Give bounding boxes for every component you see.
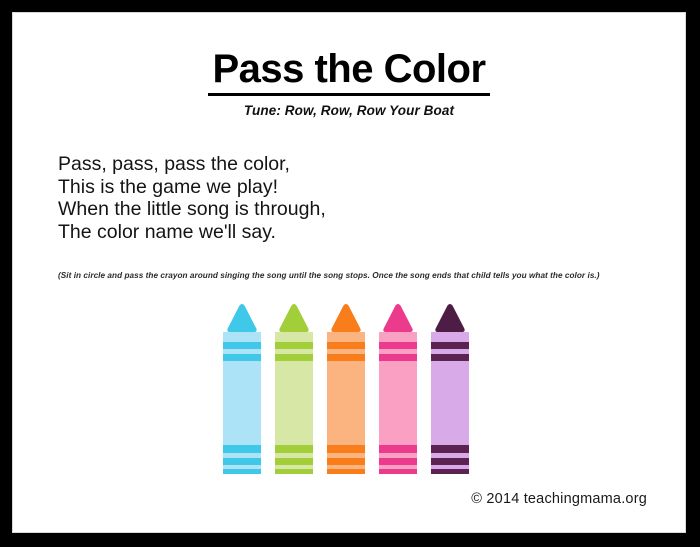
purple-crayon-stripe <box>431 342 469 349</box>
blue-crayon-stripe <box>223 354 261 361</box>
green-crayon-stripe <box>275 469 313 474</box>
lyrics-block: Pass, pass, pass the color, This is the … <box>58 153 658 243</box>
purple-crayon-stripe <box>431 458 469 465</box>
pink-crayon-tip-icon <box>382 304 414 332</box>
crayon-illustration-row <box>223 304 473 470</box>
purple-crayon-stripe <box>431 469 469 474</box>
lyric-line: When the little song is through, <box>58 198 658 221</box>
blue-crayon <box>223 304 261 470</box>
pink-crayon-stripe <box>379 342 417 349</box>
purple-crayon-body <box>431 332 469 470</box>
purple-crayon-stripe <box>431 354 469 361</box>
title-block: Pass the Color Tune: Row, Row, Row Your … <box>13 48 685 118</box>
page-title: Pass the Color <box>208 48 489 96</box>
green-crayon-stripe <box>275 458 313 465</box>
blue-crayon-fill <box>223 332 261 342</box>
pink-crayon-stripe <box>379 354 417 361</box>
purple-crayon-tip-icon <box>434 304 466 332</box>
poster-sheet: Pass the Color Tune: Row, Row, Row Your … <box>13 13 685 532</box>
blue-crayon-body <box>223 332 261 470</box>
purple-crayon-fill <box>431 332 469 342</box>
page-subtitle: Tune: Row, Row, Row Your Boat <box>13 103 685 118</box>
blue-crayon-stripe <box>223 342 261 349</box>
pink-crayon-stripe <box>379 469 417 474</box>
pink-crayon-stripe <box>379 445 417 453</box>
orange-crayon-stripe <box>327 342 365 349</box>
orange-crayon-stripe <box>327 445 365 453</box>
purple-crayon-stripe <box>431 445 469 453</box>
green-crayon-stripe <box>275 354 313 361</box>
lyric-line: This is the game we play! <box>58 176 658 199</box>
green-crayon-stripe <box>275 342 313 349</box>
blue-crayon-fill <box>223 361 261 445</box>
copyright-text: © 2014 teachingmama.org <box>471 491 647 507</box>
blue-crayon-tip-icon <box>226 304 258 332</box>
green-crayon-fill <box>275 361 313 445</box>
pink-crayon-body <box>379 332 417 470</box>
orange-crayon-body <box>327 332 365 470</box>
blue-crayon-stripe <box>223 458 261 465</box>
lyric-line: The color name we'll say. <box>58 221 658 244</box>
pink-crayon <box>379 304 417 470</box>
green-crayon-fill <box>275 332 313 342</box>
pink-crayon-fill <box>379 332 417 342</box>
pink-crayon-stripe <box>379 458 417 465</box>
orange-crayon-tip-icon <box>330 304 362 332</box>
orange-crayon-stripe <box>327 354 365 361</box>
green-crayon <box>275 304 313 470</box>
orange-crayon-fill <box>327 332 365 342</box>
green-crayon-stripe <box>275 445 313 453</box>
green-crayon-tip-icon <box>278 304 310 332</box>
blue-crayon-stripe <box>223 445 261 453</box>
green-crayon-body <box>275 332 313 470</box>
orange-crayon-fill <box>327 361 365 445</box>
poster-frame: Pass the Color Tune: Row, Row, Row Your … <box>0 0 700 547</box>
orange-crayon-stripe <box>327 469 365 474</box>
orange-crayon-stripe <box>327 458 365 465</box>
pink-crayon-fill <box>379 361 417 445</box>
lyric-line: Pass, pass, pass the color, <box>58 153 658 176</box>
purple-crayon <box>431 304 469 470</box>
instruction-note: (Sit in circle and pass the crayon aroun… <box>58 271 678 280</box>
orange-crayon <box>327 304 365 470</box>
purple-crayon-fill <box>431 361 469 445</box>
blue-crayon-stripe <box>223 469 261 474</box>
